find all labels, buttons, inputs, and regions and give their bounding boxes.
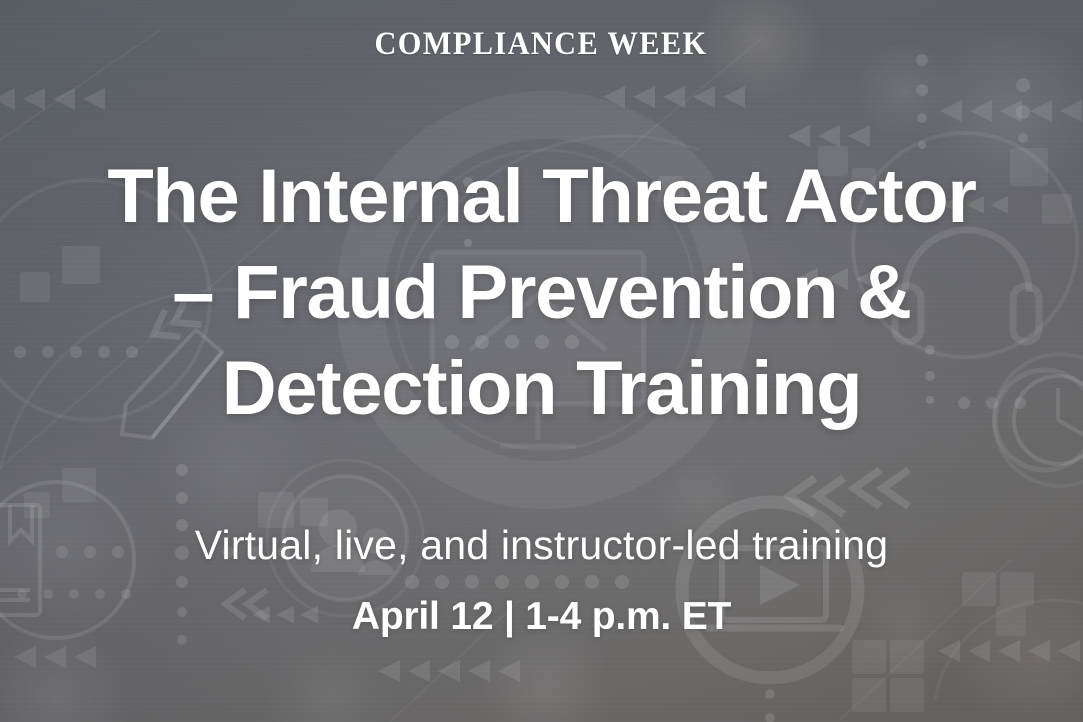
page-title-line-1: The Internal Threat Actor <box>18 149 1065 245</box>
page-title: The Internal Threat Actor – Fraud Preven… <box>0 149 1083 437</box>
event-format-subtitle: Virtual, live, and instructor-led traini… <box>195 523 889 568</box>
webinar-promo-banner: COMPLIANCE WEEK The Internal Threat Acto… <box>0 0 1083 722</box>
page-title-line-2: – Fraud Prevention & <box>18 245 1065 341</box>
compliance-week-logo: COMPLIANCE WEEK <box>375 28 708 61</box>
page-title-line-3: Detection Training <box>18 341 1065 437</box>
event-date-time: April 12 | 1-4 p.m. ET <box>352 596 731 639</box>
banner-content: COMPLIANCE WEEK The Internal Threat Acto… <box>0 0 1083 722</box>
